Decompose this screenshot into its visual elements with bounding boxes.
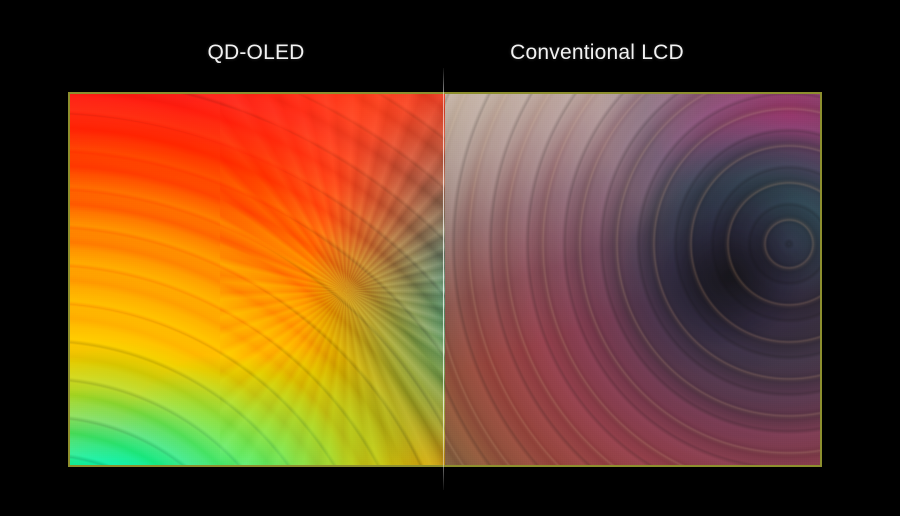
comparison-slider-divider[interactable] (443, 68, 444, 490)
image-comparison-frame[interactable] (68, 92, 822, 467)
conventional-lcd-panel[interactable] (445, 94, 820, 465)
qd-oled-panel[interactable] (70, 94, 445, 465)
qd-oled-image (70, 94, 445, 465)
lcd-desaturation-filter (445, 94, 820, 465)
qd-oled-label: QD-OLED (207, 41, 304, 65)
conventional-lcd-image (445, 94, 820, 465)
qd-oled-saturation-boost (70, 94, 445, 465)
conventional-lcd-label: Conventional LCD (510, 41, 684, 65)
comparison-stage: QD-OLED Conventional LCD (0, 0, 900, 516)
